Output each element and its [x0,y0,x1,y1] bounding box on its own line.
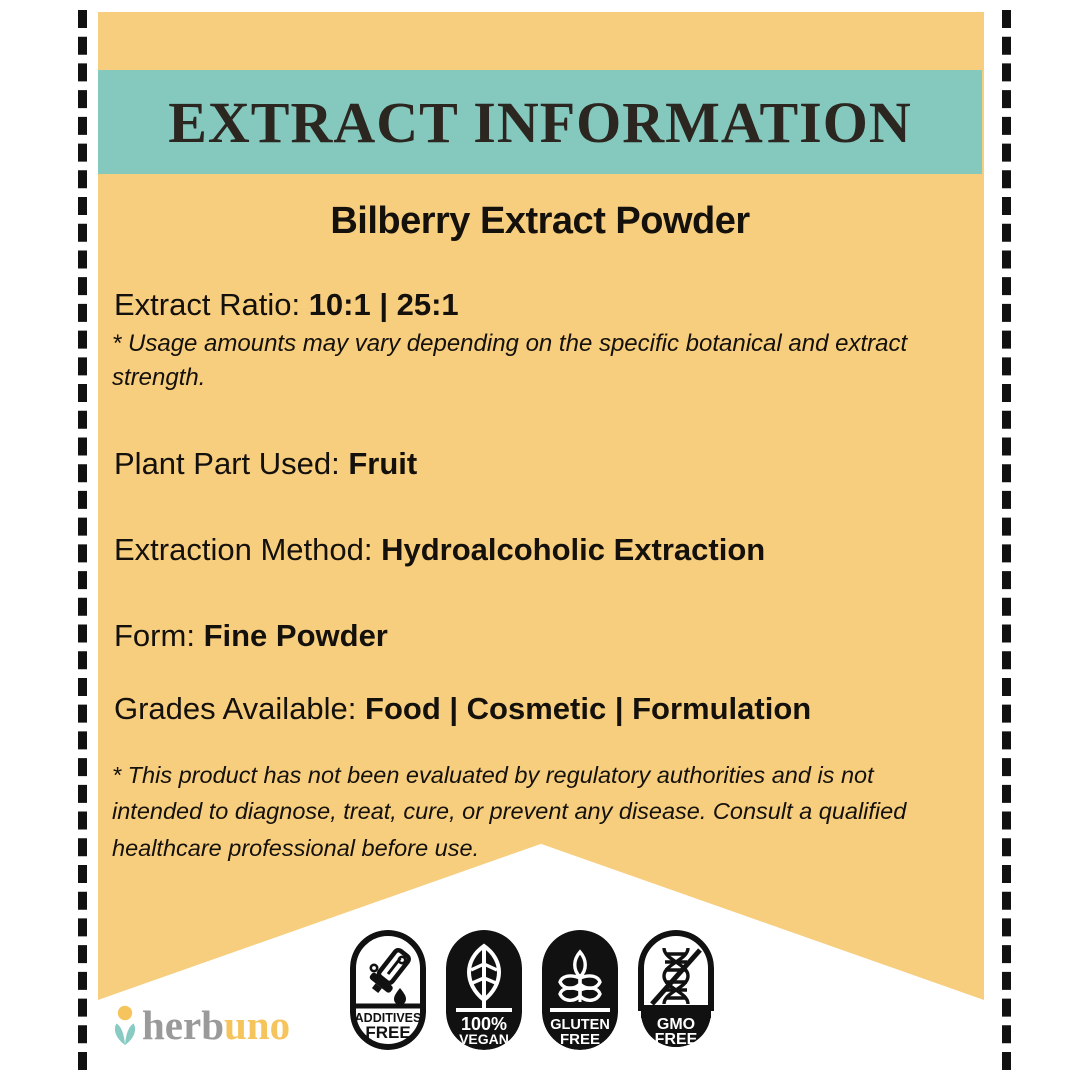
leaf-person-logo-icon [110,1004,140,1046]
logo-text: herbuno [142,1005,290,1046]
svg-text:FREE: FREE [365,1023,410,1042]
dashed-divider-right [1002,10,1011,1070]
badge-additives-free: ADDITIVES FREE ADDITIVES FREE [350,930,426,1050]
spec-label: Form: [114,618,204,653]
badge-gluten-free: GLUTEN FREE GLUTEN FREE [542,930,618,1050]
logo-text-uno: uno [224,1002,290,1048]
page-title: EXTRACT INFORMATION [168,89,912,156]
svg-text:VEGAN: VEGAN [459,1031,509,1047]
spec-extraction-method: Extraction Method: Hydroalcoholic Extrac… [98,532,982,568]
footer: herbuno ADDITIVES [0,922,1080,1080]
spec-value: Food | Cosmetic | Formulation [365,691,811,726]
content-area: Bilberry Extract Powder Extract Ratio: 1… [98,180,982,866]
spec-extract-ratio: Extract Ratio: 10:1 | 25:1 [98,287,982,323]
product-title: Bilberry Extract Powder [98,200,982,243]
dashed-divider-left [78,10,87,1070]
spec-label: Grades Available: [114,691,365,726]
svg-text:FREE: FREE [655,1031,698,1048]
svg-text:FREE: FREE [560,1031,600,1048]
logo-text-herb: herb [142,1002,224,1048]
header-banner: EXTRACT INFORMATION [98,70,982,174]
spec-plant-part-used: Plant Part Used: Fruit [98,446,982,482]
spec-value: 10:1 | 25:1 [309,287,459,322]
spec-grades-available: Grades Available: Food | Cosmetic | Form… [98,691,982,727]
spec-label: Extract Ratio: [114,287,309,322]
spec-value: Hydroalcoholic Extraction [381,532,765,567]
spec-label: Plant Part Used: [114,446,348,481]
spec-form: Form: Fine Powder [98,618,982,654]
badge-100-vegan: 100% VEGAN 100% VEGAN [446,930,522,1050]
ratio-note: * Usage amounts may vary depending on th… [98,327,956,397]
brand-logo: herbuno [110,1004,290,1046]
spec-value: Fruit [348,446,417,481]
spec-value: Fine Powder [204,618,388,653]
certification-badges: ADDITIVES FREE ADDITIVES FREE 100% VEGAN… [350,930,714,1050]
badge-gmo-free: GMO FREE GMO FREE [638,930,714,1050]
spec-label: Extraction Method: [114,532,381,567]
legal-disclaimer: * This product has not been evaluated by… [98,757,982,866]
extract-information-card: EXTRACT INFORMATION Bilberry Extract Pow… [0,0,1080,1080]
